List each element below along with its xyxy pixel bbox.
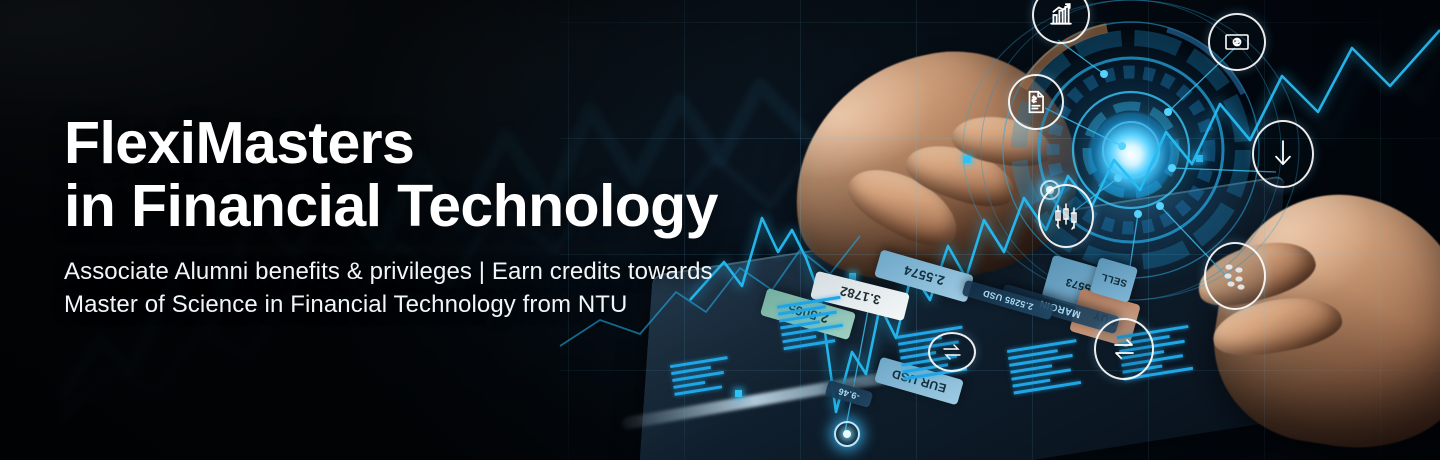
page-subtitle: Associate Alumni benefits & privileges |…: [64, 256, 824, 321]
page-title: FlexiMasters in Financial Technology: [64, 112, 824, 238]
title-line-2: in Financial Technology: [64, 173, 718, 239]
transfer-icon[interactable]: [1094, 318, 1154, 380]
coins-dots-icon[interactable]: [1204, 242, 1266, 310]
title-line-1: FlexiMasters: [64, 110, 414, 176]
banknote-icon[interactable]: [1208, 13, 1266, 71]
banner-root: 2.5065 3.1782 2.5574 2.5573 BUY EUR USD …: [0, 0, 1440, 460]
candlestick-icon[interactable]: [1038, 184, 1094, 248]
subtitle-line-2: Master of Science in Financial Technolog…: [64, 291, 627, 318]
download-arrow-icon[interactable]: [1252, 120, 1314, 188]
headline-block: FlexiMasters in Financial Technology Ass…: [64, 112, 824, 322]
invoice-icon[interactable]: [1008, 74, 1064, 130]
exchange-icon[interactable]: [928, 332, 976, 372]
target-node[interactable]: [834, 421, 860, 447]
subtitle-line-1: Associate Alumni benefits & privileges |…: [64, 258, 713, 285]
